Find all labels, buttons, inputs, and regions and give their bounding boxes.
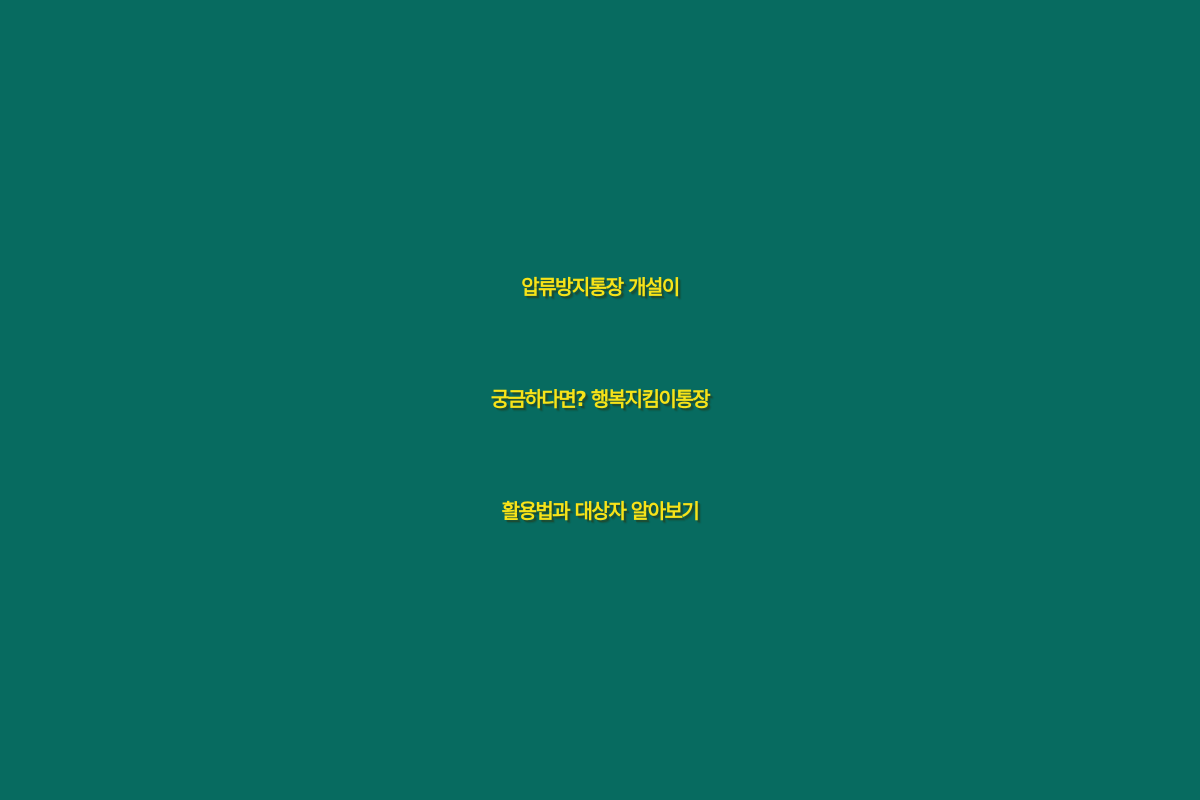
title-line-3: 활용법과 대상자 알아보기 <box>10 455 1190 567</box>
title-block: 압류방지통장 개설이 궁금하다면? 행복지킴이통장 활용법과 대상자 알아보기 <box>0 231 1200 567</box>
title-line-1: 압류방지통장 개설이 <box>10 231 1190 343</box>
thumbnail-canvas: 압류방지통장 개설이 궁금하다면? 행복지킴이통장 활용법과 대상자 알아보기 <box>0 0 1200 800</box>
title-line-2: 궁금하다면? 행복지킴이통장 <box>10 343 1190 455</box>
